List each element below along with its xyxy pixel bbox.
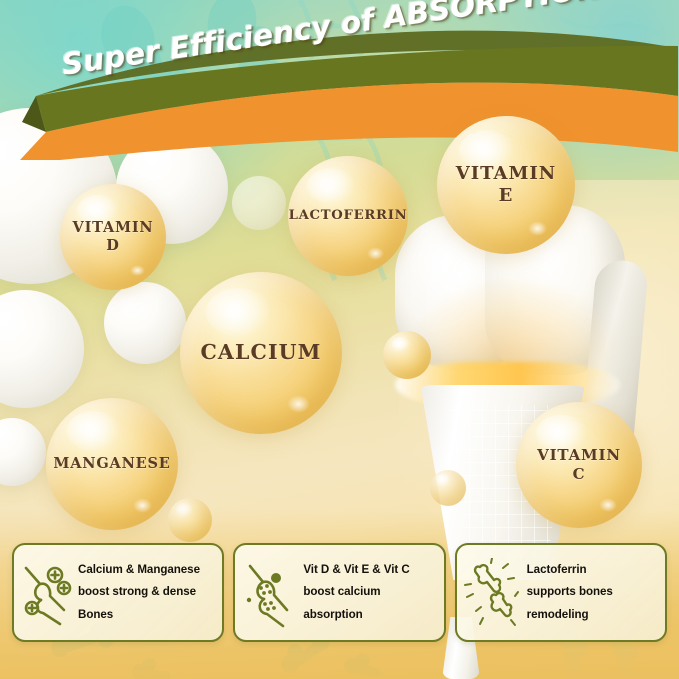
mini-bubble <box>383 331 431 379</box>
card-line: Bones <box>78 604 214 626</box>
card-line: Calcium & Manganese <box>78 559 214 581</box>
mini-bubble <box>168 498 212 542</box>
card-line: Vit D & Vit E & Vit C <box>303 559 435 581</box>
bubble-vitamin-e-label: VITAMIN E <box>456 163 557 208</box>
benefit-card-2-text: Vit D & Vit E & Vit C boost calcium abso… <box>297 559 435 626</box>
benefit-card-3-text: Lactoferrin supports bones remodeling <box>519 559 657 626</box>
benefit-card-calcium-manganese[interactable]: Calcium & Manganese boost strong & dense… <box>12 543 224 642</box>
bone-joint-plus-icon <box>20 558 76 628</box>
bubble-vitamin-c-label: VITAMIN C <box>537 446 621 483</box>
card-line: Lactoferrin <box>527 559 657 581</box>
benefit-card-1-text: Calcium & Manganese boost strong & dense… <box>76 559 214 626</box>
bubble-vitamin-c[interactable]: VITAMIN C <box>516 402 642 528</box>
benefit-card-lactoferrin[interactable]: Lactoferrin supports bones remodeling <box>455 543 667 642</box>
card-line: absorption <box>303 604 435 626</box>
bubble-lactoferrin-label: LACTOFERRIN <box>289 208 408 224</box>
bubble-calcium[interactable]: CALCIUM <box>180 272 342 434</box>
bubble-lactoferrin[interactable]: LACTOFERRIN <box>288 156 408 276</box>
bones-sparkle-icon <box>463 558 519 628</box>
bubble-manganese[interactable]: MANGANESE <box>46 398 178 530</box>
pearl-bubble <box>232 176 286 230</box>
benefit-card-vitamins[interactable]: Vit D & Vit E & Vit C boost calcium abso… <box>233 543 445 642</box>
card-line: boost calcium <box>303 581 435 603</box>
bubble-vitamin-e[interactable]: VITAMIN E <box>437 116 575 254</box>
bubble-calcium-label: CALCIUM <box>200 340 321 365</box>
bubble-vitamin-d[interactable]: VITAMIN D <box>60 184 166 290</box>
bubble-manganese-label: MANGANESE <box>53 455 170 473</box>
bubble-vitamin-d-label: VITAMIN D <box>73 219 154 255</box>
card-line: supports bones <box>527 581 657 603</box>
banner: Super Efficiency of ABSORPTION <box>0 0 679 160</box>
benefit-cards: Calcium & Manganese boost strong & dense… <box>0 543 679 642</box>
mini-bubble <box>430 470 466 506</box>
pearl-bubble <box>104 282 186 364</box>
poster-canvas: Super Efficiency of ABSORPTION VITAMIN D… <box>0 0 679 679</box>
bone-joint-particles-icon <box>241 558 297 628</box>
card-line: boost strong & dense <box>78 581 214 603</box>
card-line: remodeling <box>527 604 657 626</box>
